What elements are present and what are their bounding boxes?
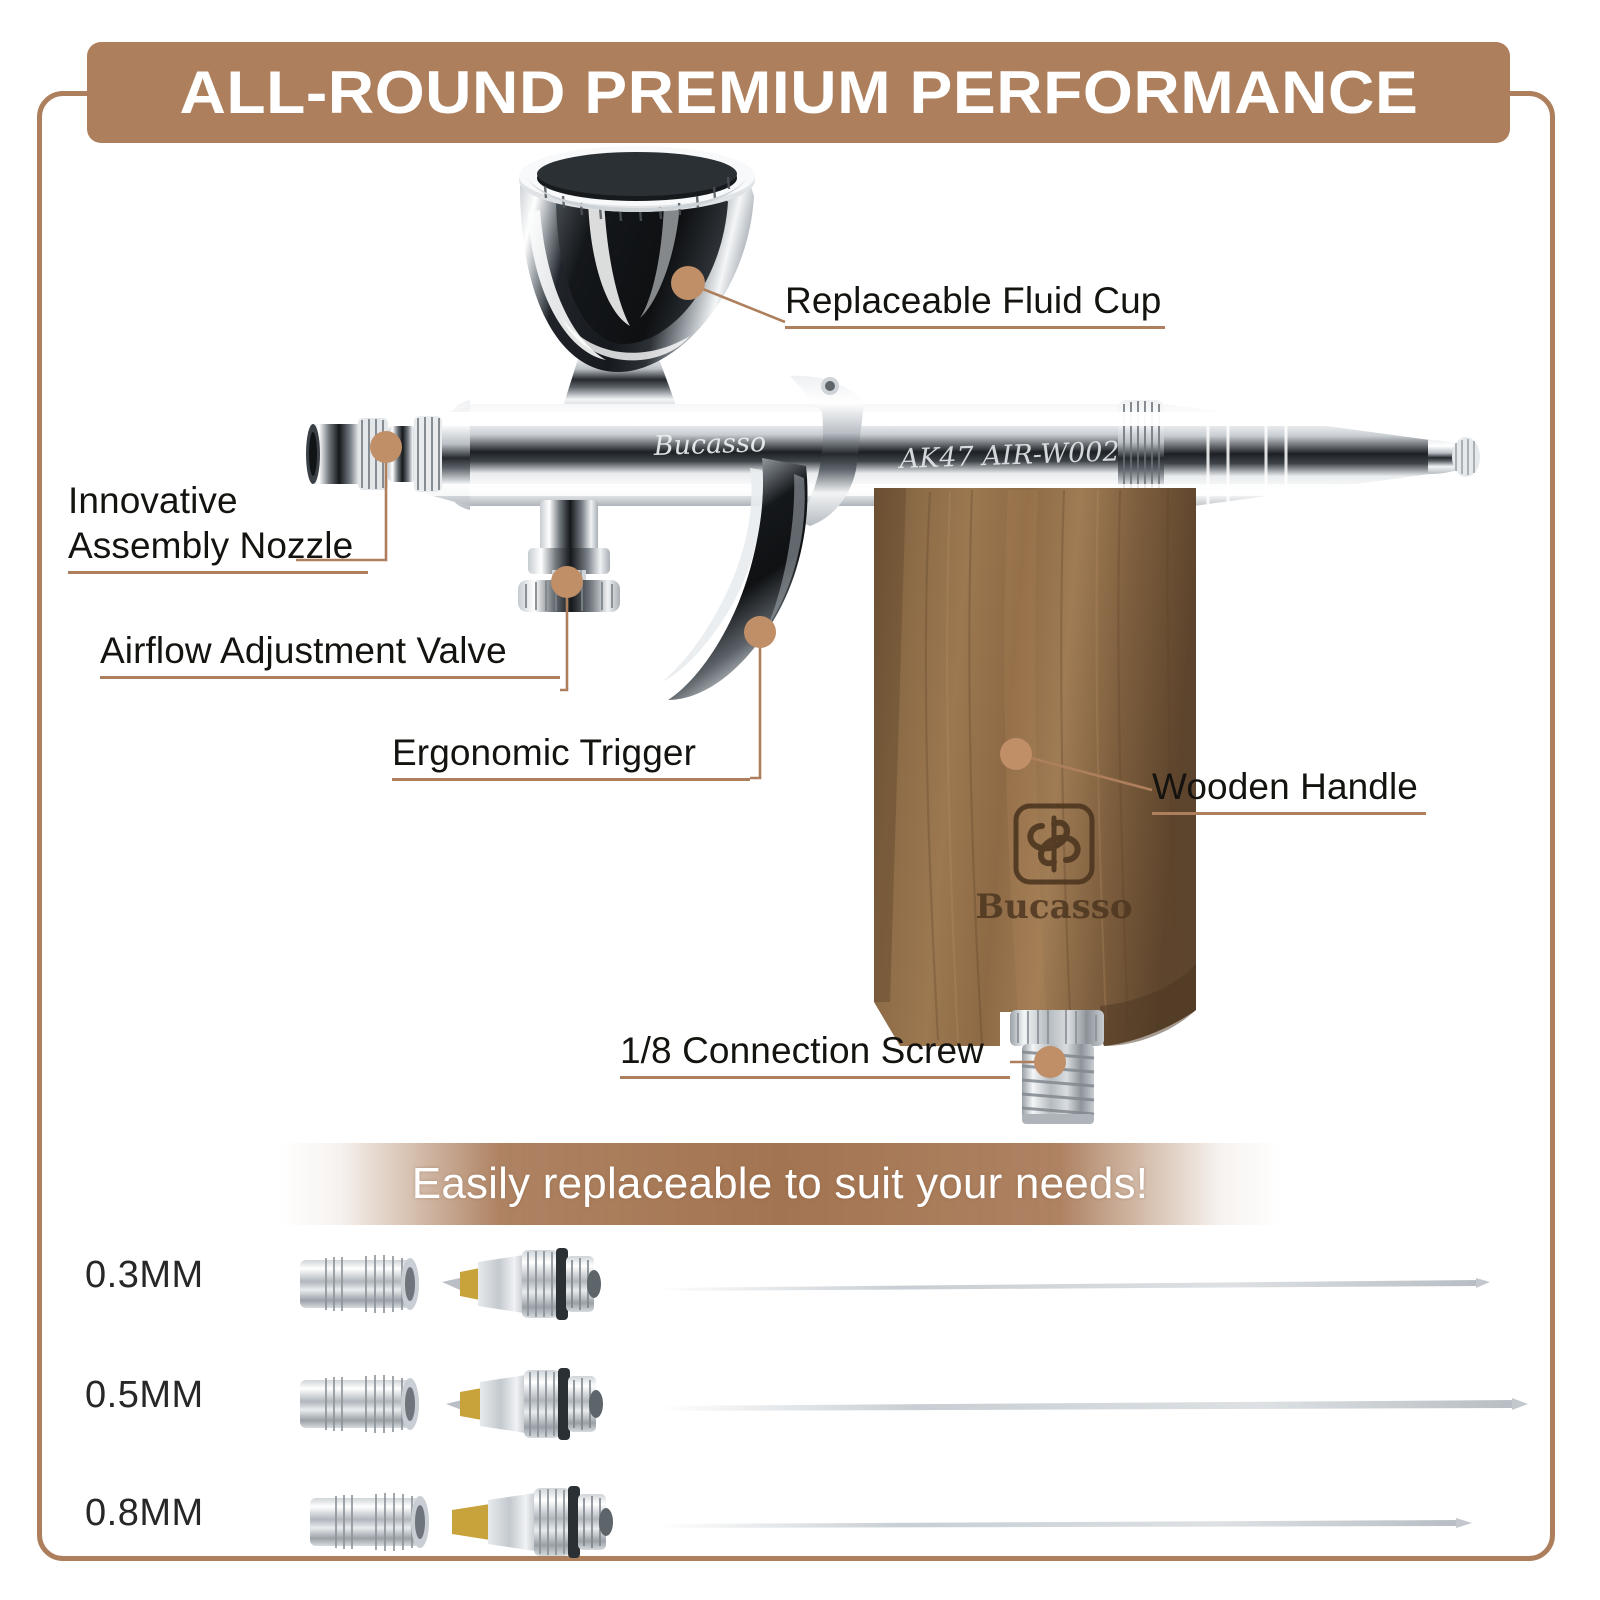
callout-underline: [620, 1076, 1010, 1079]
nozzle-cap: [300, 1375, 419, 1433]
callout-label: Innovative Assembly Nozzle: [68, 478, 368, 568]
airbrush-product-illustration: Bucasso Bucasso AK47 AIR-W002: [0, 0, 1600, 1200]
callout-wooden-handle: Wooden Handle: [1152, 764, 1426, 815]
nozzle-parts-1: [60, 1348, 1540, 1460]
callout-underline: [785, 326, 1165, 329]
banner-title: ALL-ROUND PREMIUM PERFORMANCE: [179, 58, 1418, 127]
callout-ergonomic-trigger: Ergonomic Trigger: [392, 730, 750, 781]
nozzle-needle: [656, 1278, 1490, 1291]
callout-label: Ergonomic Trigger: [392, 730, 750, 775]
handle-brand-text: Bucasso: [975, 887, 1132, 927]
callout-connection-screw: 1/8 Connection Screw: [620, 1028, 1010, 1079]
nozzle-parts-0: [60, 1228, 1540, 1340]
callout-underline: [100, 676, 560, 679]
callout-label: Replaceable Fluid Cup: [785, 278, 1165, 323]
nozzle-row-0: 0.3MM: [60, 1228, 1540, 1340]
callout-airflow-adjustment-valve: Airflow Adjustment Valve: [100, 628, 560, 679]
wooden-handle: Bucasso: [874, 486, 1196, 1046]
callout-underline: [392, 778, 750, 781]
callout-replaceable-fluid-cup: Replaceable Fluid Cup: [785, 278, 1165, 329]
promo-band: Easily replaceable to suit your needs!: [280, 1143, 1280, 1225]
header-banner: ALL-ROUND PREMIUM PERFORMANCE: [87, 42, 1510, 143]
nozzle-body: [442, 1248, 601, 1320]
nozzle-cap: [300, 1255, 419, 1313]
connection-screw: [1010, 1010, 1104, 1124]
nozzle-row-2: 0.8MM: [60, 1466, 1540, 1578]
callout-label: Airflow Adjustment Valve: [100, 628, 560, 673]
fluid-cup: [519, 146, 755, 416]
callout-underline: [1152, 812, 1426, 815]
promo-text: Easily replaceable to suit your needs!: [412, 1159, 1148, 1209]
body-brand-script: Bucasso: [652, 427, 766, 462]
nozzle-body: [452, 1486, 613, 1558]
nozzle-cap: [310, 1493, 429, 1551]
nozzle-body: [446, 1368, 603, 1440]
callout-innovative-assembly-nozzle: Innovative Assembly Nozzle: [68, 478, 368, 574]
callout-label: Wooden Handle: [1152, 764, 1426, 809]
nozzle-needle: [660, 1518, 1472, 1528]
airflow-valve: [518, 500, 620, 612]
callout-underline: [68, 571, 368, 574]
callout-label: 1/8 Connection Screw: [620, 1028, 1010, 1073]
nozzle-needle: [660, 1398, 1528, 1411]
nozzle-row-1: 0.5MM: [60, 1348, 1540, 1460]
nozzle-parts-2: [60, 1466, 1540, 1578]
